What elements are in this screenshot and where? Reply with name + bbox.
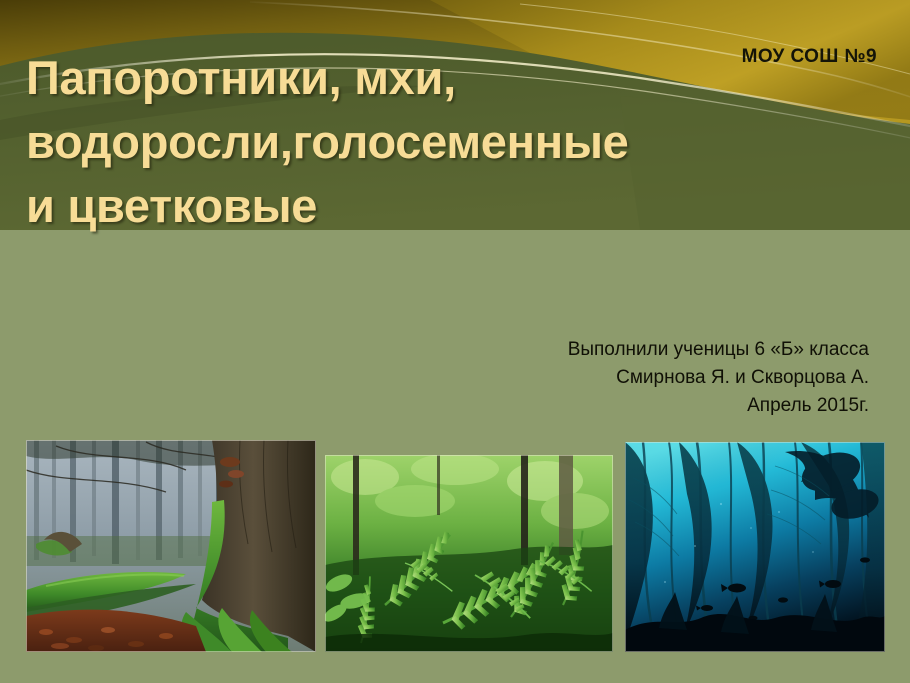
fern-thicket-photo <box>325 455 613 652</box>
underwater-kelp-photo <box>625 442 885 652</box>
authors-block: Выполнили ученицы 6 «Б» класса Смирнова … <box>449 336 869 420</box>
school-label: МОУ СОШ №9 <box>742 46 877 68</box>
page-title: Папоротники, мхи, водоросли,голосеменные… <box>26 46 626 238</box>
presentation-slide: Папоротники, мхи, водоросли,голосеменные… <box>0 0 910 683</box>
mossy-forest-photo <box>26 440 316 652</box>
